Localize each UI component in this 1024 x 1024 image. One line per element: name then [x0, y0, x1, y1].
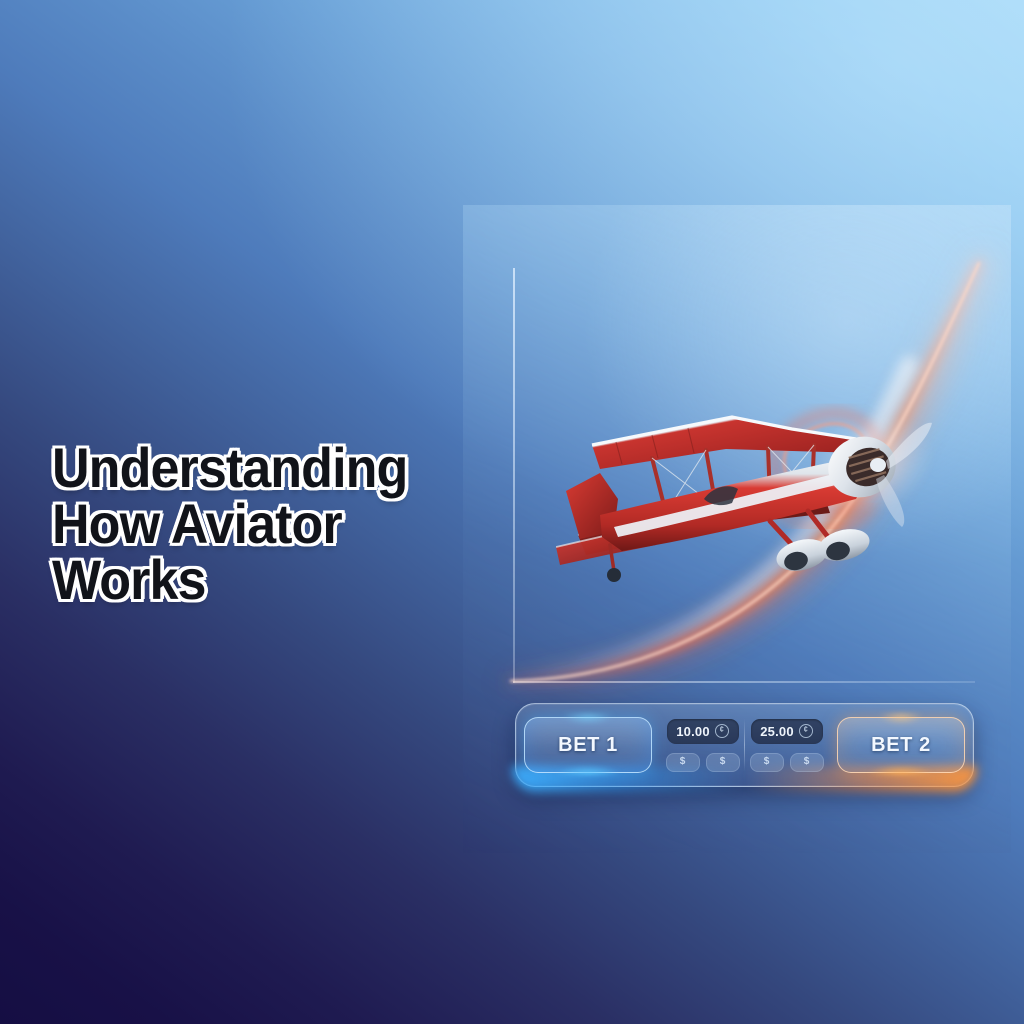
bet2-amount-field[interactable]: 25.00 ¢	[751, 719, 823, 744]
title-line-1: Understanding	[52, 440, 424, 496]
bet1-stake-group: 10.00 ¢ $ $	[665, 719, 740, 772]
chart-x-axis-line	[513, 681, 975, 683]
bet1-button[interactable]: BET 1	[524, 717, 652, 773]
red-biplane-icon	[556, 395, 946, 625]
screenshot-root: Understanding How Aviator Works BET 1 10…	[0, 0, 1024, 1024]
bet2-stake-group: 25.00 ¢ $ $	[749, 719, 824, 772]
bet2-label: BET 2	[871, 734, 931, 757]
bet2-quick-chip-1[interactable]: $	[750, 753, 784, 772]
bet1-quick-chip-2[interactable]: $	[706, 753, 740, 772]
title-line-2: How Aviator	[52, 496, 424, 552]
bet2-amount-value: 25.00	[760, 724, 794, 739]
title-line-3: Works	[52, 552, 424, 608]
bet1-label: BET 1	[558, 734, 618, 757]
bet2-quick-chip-2[interactable]: $	[790, 753, 824, 772]
coin-icon: ¢	[715, 724, 729, 738]
bet1-quick-chip-1[interactable]: $	[666, 753, 700, 772]
bet1-amount-value: 10.00	[676, 724, 710, 739]
coin-icon: ¢	[799, 724, 813, 738]
bet2-button[interactable]: BET 2	[837, 717, 965, 773]
page-title: Understanding How Aviator Works	[52, 440, 424, 608]
bet-control-bar: BET 1 10.00 ¢ $ $ 25.00 ¢	[515, 703, 974, 787]
bet1-amount-field[interactable]: 10.00 ¢	[667, 719, 739, 744]
chart-y-axis-line	[513, 268, 515, 683]
stake-divider	[744, 719, 745, 771]
